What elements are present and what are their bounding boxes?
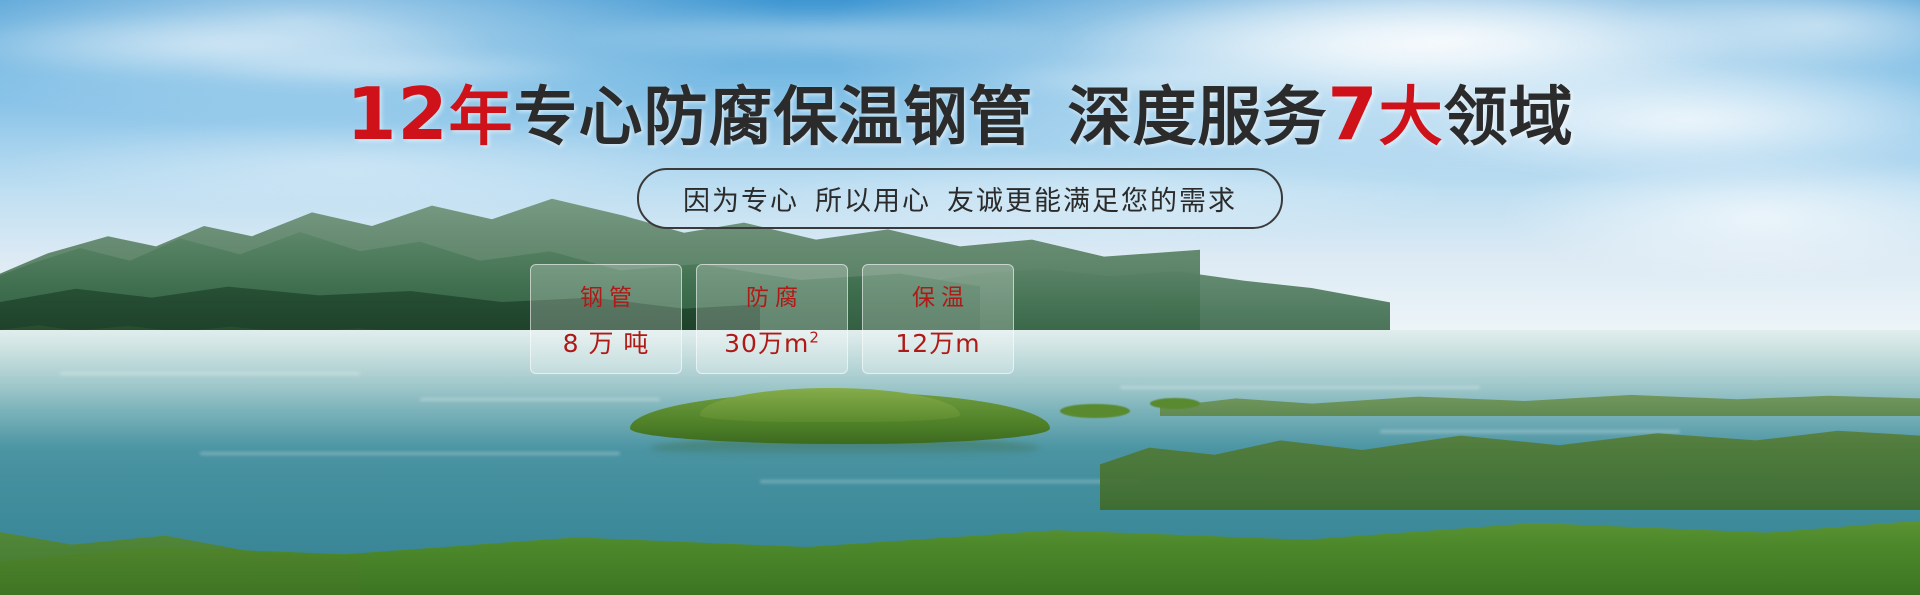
stat-card-value-text: 12万m — [895, 329, 980, 358]
stat-card-value: 12万m — [895, 324, 980, 360]
headline-years-unit: 年 — [449, 81, 514, 155]
water-ripple — [420, 398, 660, 401]
stat-card-value-superscript: 2 — [809, 329, 820, 347]
headline-main-text: 专心防腐保温钢管 — [514, 81, 1034, 155]
stat-card-value-text: 8 万 吨 — [563, 329, 650, 358]
stat-cards-group: 钢管 8 万 吨 防腐 30万m2 保温 12万m — [530, 264, 1014, 374]
subtitle-pill: 因为专心所以用心友诚更能满足您的需求 — [637, 168, 1283, 229]
headline-fields-unit: 大 — [1379, 81, 1444, 155]
stat-card-label: 防腐 — [740, 278, 804, 312]
subtitle-part-1: 因为专心 — [683, 186, 799, 217]
stat-card-steel-pipe[interactable]: 钢管 8 万 吨 — [530, 264, 682, 374]
stat-card-value-text: 30万m — [724, 329, 809, 358]
stat-card-value: 8 万 吨 — [563, 324, 650, 360]
stat-card-value: 30万m2 — [724, 324, 820, 360]
stat-card-label: 钢管 — [574, 278, 638, 312]
water-ripple — [60, 372, 360, 375]
small-islet — [1150, 398, 1200, 409]
water-ripple — [760, 480, 1140, 483]
hero-banner: 12年专心防腐保温钢管深度服务7大领域 因为专心所以用心友诚更能满足您的需求 钢… — [0, 0, 1920, 595]
banner-headline: 12年专心防腐保温钢管深度服务7大领域 — [0, 78, 1920, 150]
small-islet — [1060, 404, 1130, 418]
subtitle-part-2: 所以用心 — [815, 186, 931, 217]
water-ripple — [1380, 430, 1680, 433]
stat-card-anticorrosion[interactable]: 防腐 30万m2 — [696, 264, 848, 374]
stat-card-label: 保温 — [906, 278, 970, 312]
headline-years-number: 12 — [346, 72, 448, 156]
headline-tail-text: 领域 — [1444, 81, 1574, 155]
headline-fields-number: 7 — [1328, 72, 1379, 156]
stat-card-insulation[interactable]: 保温 12万m — [862, 264, 1014, 374]
headline-second-text: 深度服务 — [1068, 81, 1328, 155]
water-ripple — [1120, 386, 1480, 389]
water-ripple — [200, 452, 620, 455]
subtitle-part-3: 友诚更能满足您的需求 — [947, 186, 1237, 217]
